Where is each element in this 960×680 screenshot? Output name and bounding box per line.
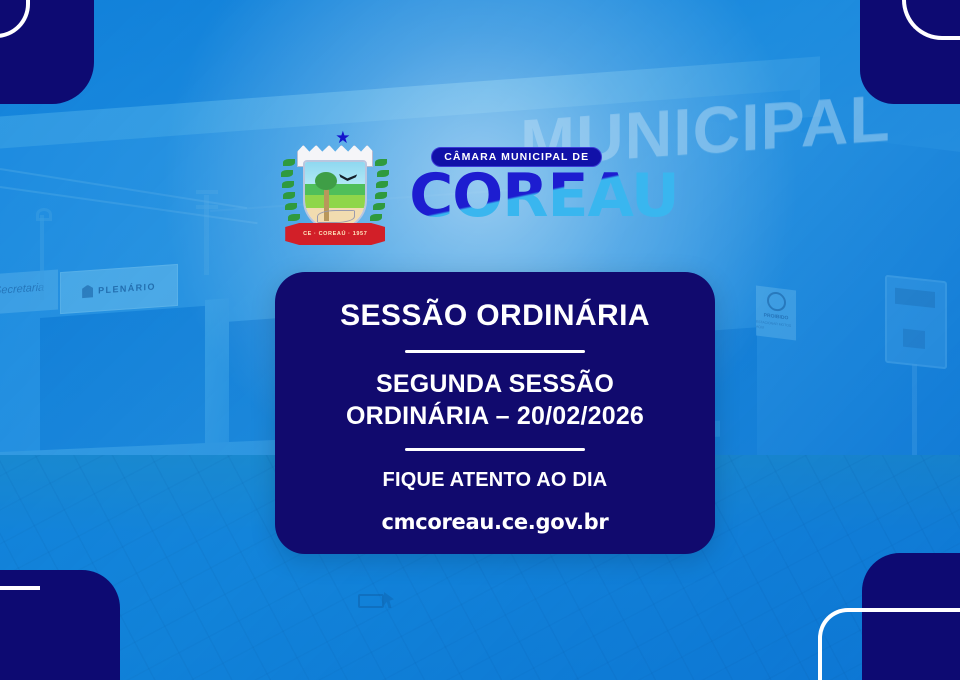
wordmark-coreau: COREAÚ	[409, 169, 679, 224]
announcement-card: SESSÃO ORDINÁRIA SEGUNDA SESSÃO ORDINÁRI…	[275, 272, 715, 554]
poster-canvas: Secretaria PLENÁRIO PROIBIDO ESTACIONAR …	[0, 0, 960, 680]
wordmark: CÂMARA MUNICIPAL DE COREAÚ	[409, 147, 679, 224]
fish-icon	[317, 210, 355, 223]
divider-bottom	[405, 448, 585, 451]
card-subtitle-line1: SEGUNDA SESSÃO	[346, 369, 644, 401]
divider-top	[405, 350, 585, 353]
card-subtitle: SEGUNDA SESSÃO ORDINÁRIA – 20/02/2026	[346, 369, 644, 432]
ribbon-text: CE · COREAÚ · 1957	[303, 231, 367, 237]
card-note: FIQUE ATENTO AO DIA	[383, 469, 608, 492]
card-subtitle-line2: ORDINÁRIA – 20/02/2026	[346, 401, 644, 433]
corner-outline-bottom-left	[0, 586, 40, 680]
laurel-branch-left-icon	[281, 157, 301, 229]
corner-outline-bottom-right	[818, 608, 960, 680]
shield-icon	[303, 160, 367, 230]
card-website-url[interactable]: cmcoreau.ce.gov.br	[382, 510, 609, 534]
logo-lockup: ★	[0, 126, 960, 246]
coat-of-arms-icon: ★	[281, 127, 389, 245]
ribbon-banner: CE · COREAÚ · 1957	[285, 223, 385, 245]
card-title: SESSÃO ORDINÁRIA	[340, 299, 650, 332]
laurel-branch-right-icon	[369, 157, 389, 229]
